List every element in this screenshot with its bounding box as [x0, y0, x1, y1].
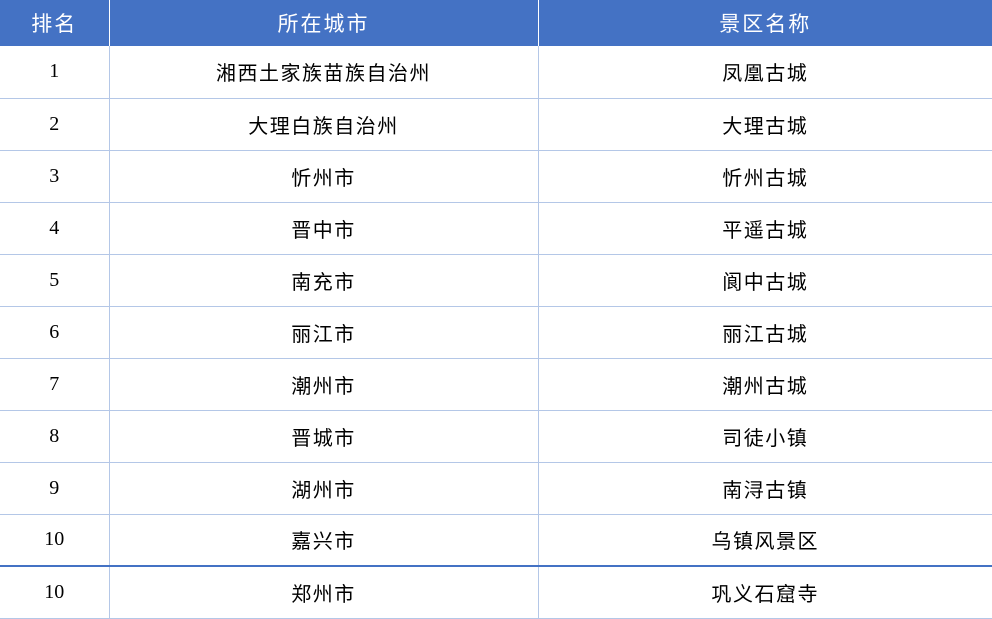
ranking-table: 排名 所在城市 景区名称 1湘西土家族苗族自治州凤凰古城2大理白族自治州大理古城…	[0, 0, 992, 619]
cell-rank: 3	[0, 150, 109, 202]
cell-spot: 南浔古镇	[538, 462, 992, 514]
cell-rank: 8	[0, 410, 109, 462]
cell-spot: 忻州古城	[538, 150, 992, 202]
cell-spot: 平遥古城	[538, 202, 992, 254]
header-row: 排名 所在城市 景区名称	[0, 0, 992, 46]
cell-rank: 5	[0, 254, 109, 306]
cell-city: 湖州市	[109, 462, 538, 514]
table-header: 排名 所在城市 景区名称	[0, 0, 992, 46]
cell-city: 忻州市	[109, 150, 538, 202]
cell-city: 潮州市	[109, 358, 538, 410]
cell-rank: 6	[0, 306, 109, 358]
cell-spot: 凤凰古城	[538, 46, 992, 98]
table-row: 4晋中市平遥古城	[0, 202, 992, 254]
table-row: 5南充市阆中古城	[0, 254, 992, 306]
table-row: 1湘西土家族苗族自治州凤凰古城	[0, 46, 992, 98]
cell-spot: 乌镇风景区	[538, 514, 992, 566]
cell-rank: 9	[0, 462, 109, 514]
cell-spot: 潮州古城	[538, 358, 992, 410]
cell-city: 丽江市	[109, 306, 538, 358]
cell-spot: 阆中古城	[538, 254, 992, 306]
column-header-rank: 排名	[0, 0, 109, 46]
table-row: 6丽江市丽江古城	[0, 306, 992, 358]
cell-city: 湘西土家族苗族自治州	[109, 46, 538, 98]
cell-spot: 大理古城	[538, 98, 992, 150]
table-row: 9湖州市南浔古镇	[0, 462, 992, 514]
column-header-spot: 景区名称	[538, 0, 992, 46]
cell-rank: 10	[0, 566, 109, 618]
cell-city: 大理白族自治州	[109, 98, 538, 150]
table-row: 10郑州市巩义石窟寺	[0, 566, 992, 618]
cell-city: 晋中市	[109, 202, 538, 254]
cell-spot: 丽江古城	[538, 306, 992, 358]
table-row: 8晋城市司徒小镇	[0, 410, 992, 462]
cell-rank: 2	[0, 98, 109, 150]
cell-rank: 1	[0, 46, 109, 98]
cell-rank: 7	[0, 358, 109, 410]
table-row: 10嘉兴市乌镇风景区	[0, 514, 992, 566]
cell-city: 嘉兴市	[109, 514, 538, 566]
cell-rank: 4	[0, 202, 109, 254]
table-row: 7潮州市潮州古城	[0, 358, 992, 410]
cell-city: 晋城市	[109, 410, 538, 462]
cell-spot: 司徒小镇	[538, 410, 992, 462]
cell-rank: 10	[0, 514, 109, 566]
cell-spot: 巩义石窟寺	[538, 566, 992, 618]
table-row: 2大理白族自治州大理古城	[0, 98, 992, 150]
cell-city: 郑州市	[109, 566, 538, 618]
table-body: 1湘西土家族苗族自治州凤凰古城2大理白族自治州大理古城3忻州市忻州古城4晋中市平…	[0, 46, 992, 618]
cell-city: 南充市	[109, 254, 538, 306]
column-header-city: 所在城市	[109, 0, 538, 46]
table-row: 3忻州市忻州古城	[0, 150, 992, 202]
